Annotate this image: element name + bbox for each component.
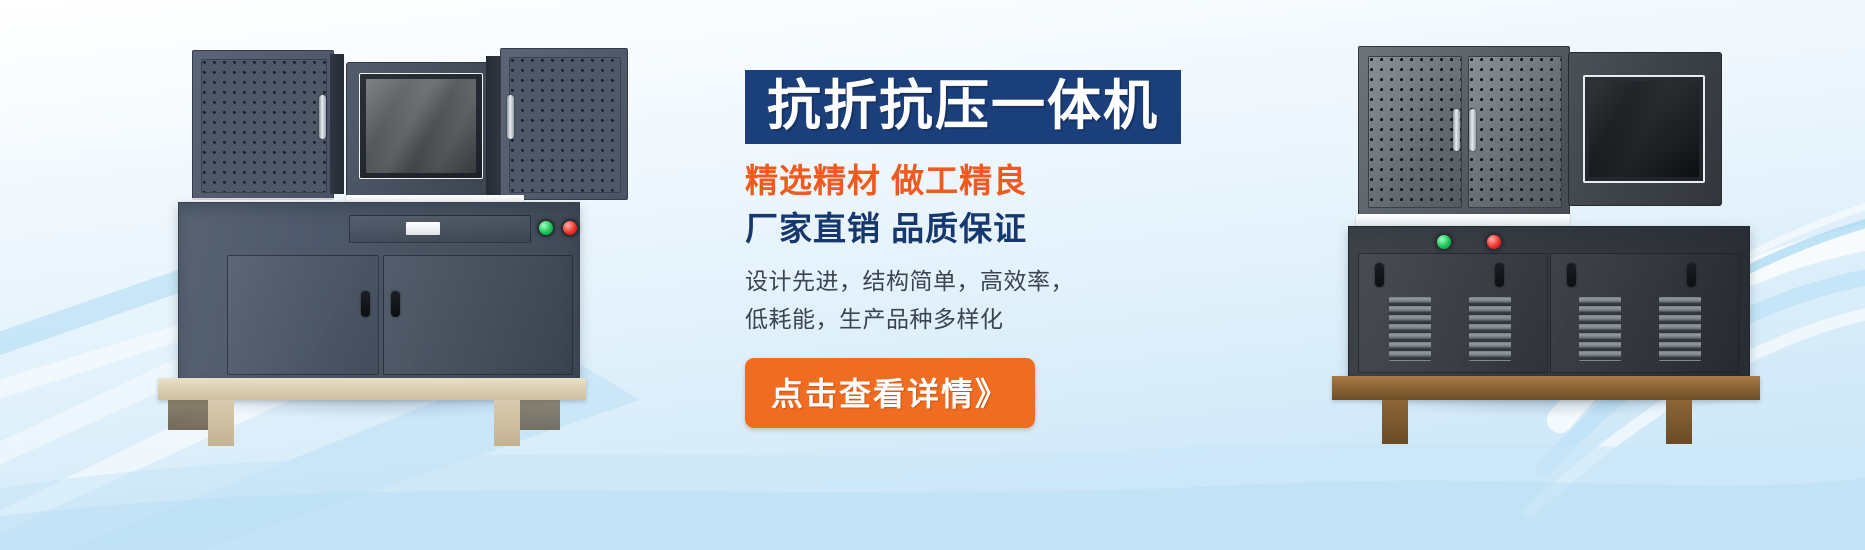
right-door-handle-4[interactable] [1687, 263, 1696, 287]
left-pallet-leg-1 [208, 400, 234, 446]
page-title: 抗折抗压一体机 [767, 76, 1159, 136]
perforated-panel-left [201, 59, 327, 193]
right-pallet-leg-2 [1666, 400, 1692, 444]
left-monitor-bezel [359, 73, 483, 179]
product-promo-banner: 抗折抗压一体机 精选精材 做工精良 厂家直销 品质保证 设计先进，结构简单，高效… [0, 0, 1865, 550]
right-stop-lamp-red[interactable] [1485, 233, 1503, 251]
right-machine-body [1348, 226, 1750, 380]
right-perforated-panel-right[interactable] [1468, 56, 1562, 208]
left-drawer-label [406, 222, 440, 235]
left-lower-door-1[interactable] [227, 255, 379, 375]
left-upper-cabinet-left [192, 50, 334, 200]
right-door-handle-3[interactable] [1567, 263, 1576, 287]
right-monitor-housing [1568, 52, 1722, 206]
left-pallet-gap-shadow [168, 400, 208, 430]
right-pallet-top [1332, 376, 1760, 400]
view-details-button[interactable]: 点击查看详情》 [745, 358, 1035, 428]
right-perforated-panel-left[interactable] [1368, 56, 1462, 208]
title-bar: 抗折抗压一体机 [745, 70, 1181, 144]
left-monitor-housing [346, 62, 494, 198]
right-door-handle-2[interactable] [1495, 263, 1504, 287]
right-louver-vent-4 [1659, 297, 1701, 361]
left-control-drawer[interactable] [349, 215, 531, 243]
description-line-2: 低耗能，生产品种多样化 [745, 301, 1175, 338]
left-machine-body [178, 202, 580, 382]
left-power-lamp-green[interactable] [537, 219, 555, 237]
right-power-lamp-green[interactable] [1435, 233, 1453, 251]
right-door-handle-1[interactable] [1375, 263, 1384, 287]
left-upper-cabinet-left-side [330, 54, 344, 194]
left-stop-lamp-red[interactable] [561, 219, 579, 237]
right-monitor-screen [1589, 81, 1699, 177]
left-door-handle-2[interactable] [391, 291, 400, 317]
machine-right [1330, 38, 1760, 458]
left-upper-cabinet-right [500, 48, 628, 200]
cabinet-handle-right[interactable] [507, 95, 514, 139]
right-cabinet-handle-right[interactable] [1469, 109, 1476, 151]
description-line-1: 设计先进，结构简单，高效率， [745, 263, 1175, 300]
right-louver-vent-2 [1469, 297, 1511, 361]
left-pallet-gap-shadow-2 [520, 400, 560, 430]
promo-text-block: 抗折抗压一体机 精选精材 做工精良 厂家直销 品质保证 设计先进，结构简单，高效… [745, 70, 1175, 428]
perforated-panel-right [509, 57, 621, 193]
right-upper-cabinet [1358, 46, 1570, 216]
right-lower-door-1[interactable] [1358, 253, 1548, 373]
left-door-handle-1[interactable] [361, 291, 370, 317]
right-louver-vent-3 [1579, 297, 1621, 361]
right-shelf-strip [1356, 214, 1570, 226]
left-pallet-top [158, 378, 586, 400]
left-lower-door-2[interactable] [383, 255, 573, 375]
cabinet-handle-left[interactable] [319, 95, 326, 139]
machine-left [150, 40, 580, 460]
right-cabinet-handle-left[interactable] [1453, 109, 1460, 151]
subtitle-orange: 精选精材 做工精良 [745, 160, 1175, 202]
subtitle-blue: 厂家直销 品质保证 [745, 208, 1175, 250]
right-pallet-leg-1 [1382, 400, 1408, 444]
right-monitor-bezel [1583, 75, 1705, 183]
right-louver-vent-1 [1389, 297, 1431, 361]
left-pallet-leg-2 [494, 400, 520, 446]
left-monitor-screen [366, 79, 476, 173]
